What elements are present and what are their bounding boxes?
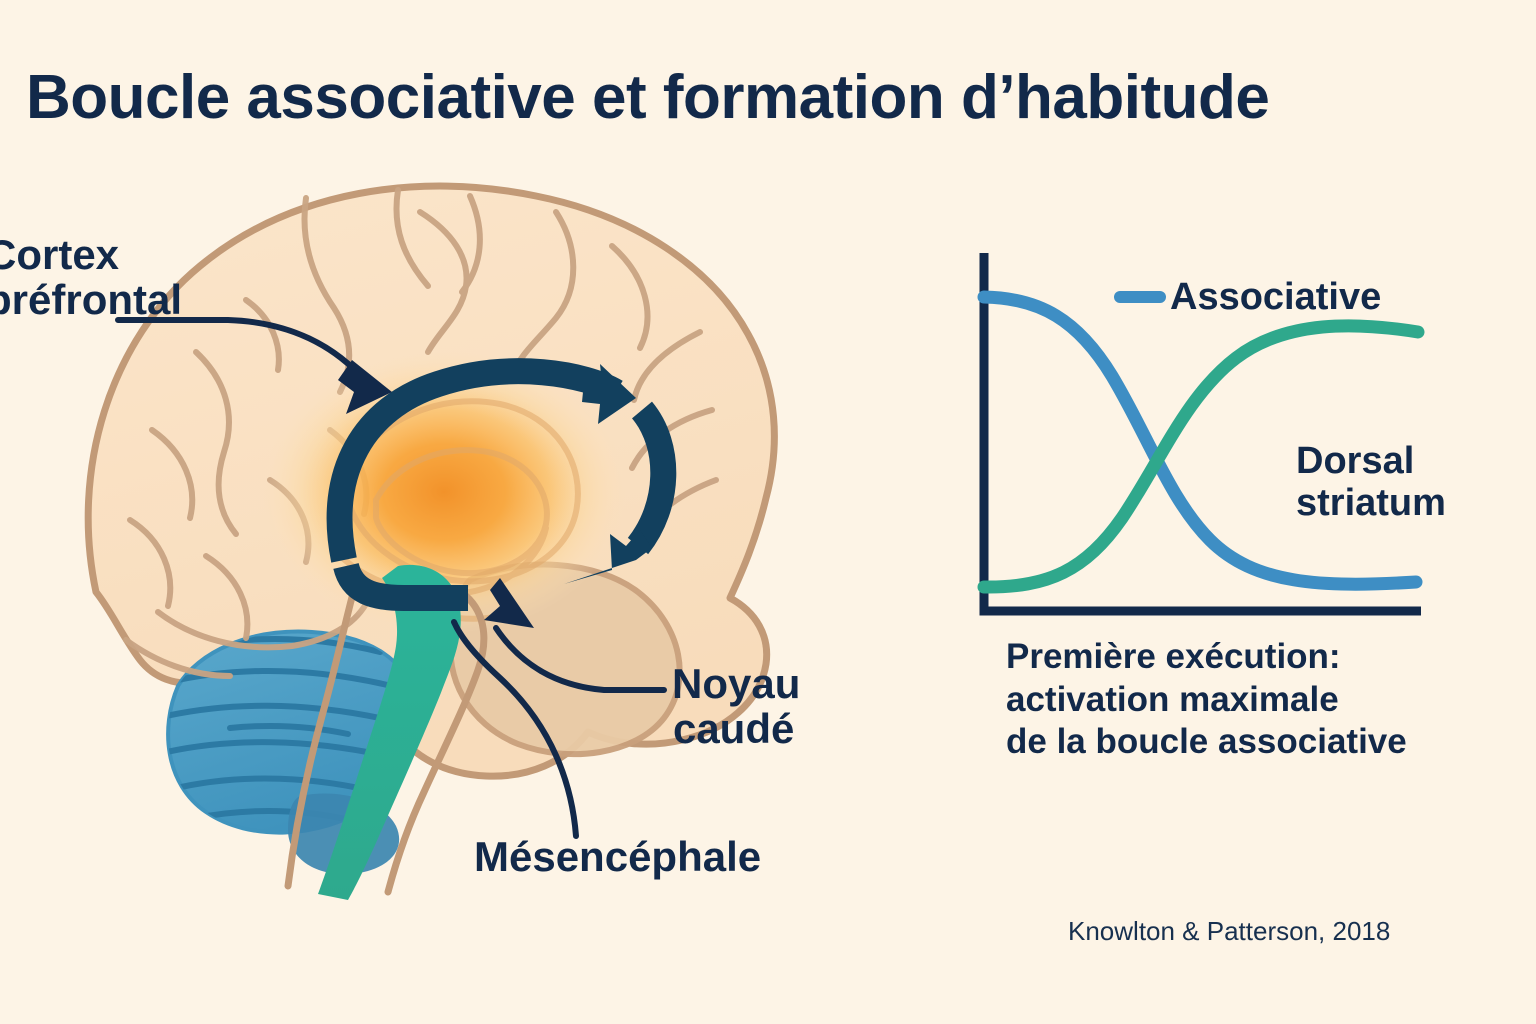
label-cortex-prefrontal: Cortex préfrontal (0, 233, 182, 322)
label-mesencephale: Mésencéphale (474, 835, 761, 880)
citation: Knowlton & Patterson, 2018 (1068, 916, 1390, 947)
legend-label-associative: Associative (1170, 277, 1381, 317)
chart-caption-line3: de la boucle associative (1006, 721, 1407, 764)
label-noyau-line2: caudé (672, 707, 800, 752)
series-label-dorsal-line2: striatum (1296, 482, 1446, 524)
label-cortex-line1: Cortex (0, 231, 119, 278)
chart-caption: Première exécution: activation maximale … (1006, 636, 1407, 764)
chart-caption-line1: Première exécution: (1006, 636, 1407, 679)
label-noyau-caude: Noyau caudé (672, 662, 800, 751)
series-label-dorsal-line1: Dorsal (1296, 440, 1414, 482)
series-label-dorsal-striatum: Dorsal striatum (1296, 441, 1446, 525)
label-noyau-line1: Noyau (672, 660, 800, 707)
figure-canvas: Boucle associative et formation d’habitu… (0, 0, 1536, 1024)
label-cortex-line2: préfrontal (0, 276, 182, 323)
legend-swatch-associative (1114, 291, 1166, 303)
chart-caption-line2: activation maximale (1006, 679, 1407, 722)
